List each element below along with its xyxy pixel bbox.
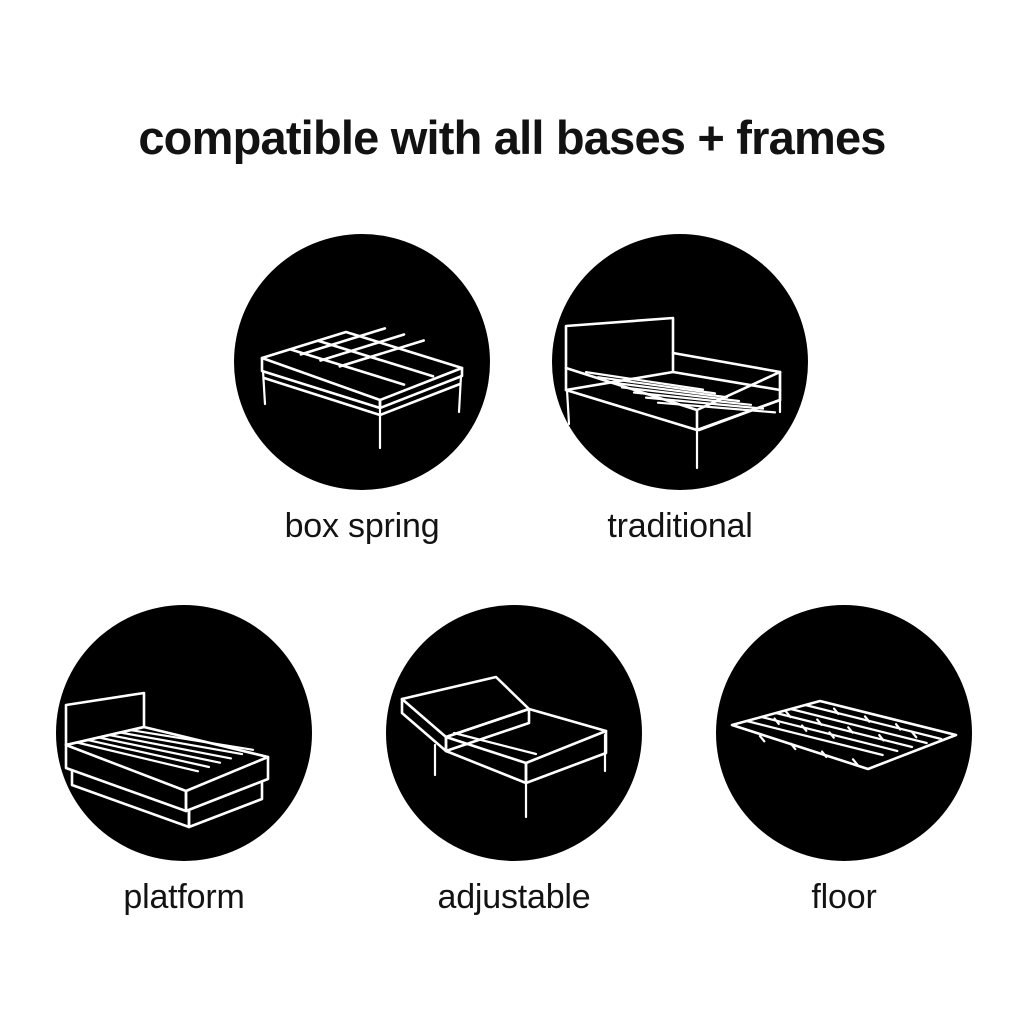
caption-adjustable: adjustable [386, 877, 642, 917]
infographic-page: compatible with all bases + frames [0, 0, 1024, 1024]
caption-box-spring: box spring [234, 506, 490, 546]
item-traditional[interactable]: traditional [552, 234, 808, 546]
page-title: compatible with all bases + frames [0, 110, 1024, 166]
caption-platform: platform [56, 877, 312, 917]
adjustable-disc [386, 605, 642, 861]
item-box-spring[interactable]: box spring [234, 234, 490, 546]
floor-icon [716, 605, 972, 861]
floor-disc [716, 605, 972, 861]
adjustable-base-icon [386, 605, 642, 861]
box-spring-icon [234, 234, 490, 490]
box-spring-disc [234, 234, 490, 490]
traditional-disc [552, 234, 808, 490]
traditional-bed-frame-icon [552, 234, 808, 490]
caption-traditional: traditional [552, 506, 808, 546]
item-platform[interactable]: platform [56, 605, 312, 917]
caption-floor: floor [716, 877, 972, 917]
item-floor[interactable]: floor [716, 605, 972, 917]
item-adjustable[interactable]: adjustable [386, 605, 642, 917]
platform-bed-icon [56, 605, 312, 861]
platform-disc [56, 605, 312, 861]
